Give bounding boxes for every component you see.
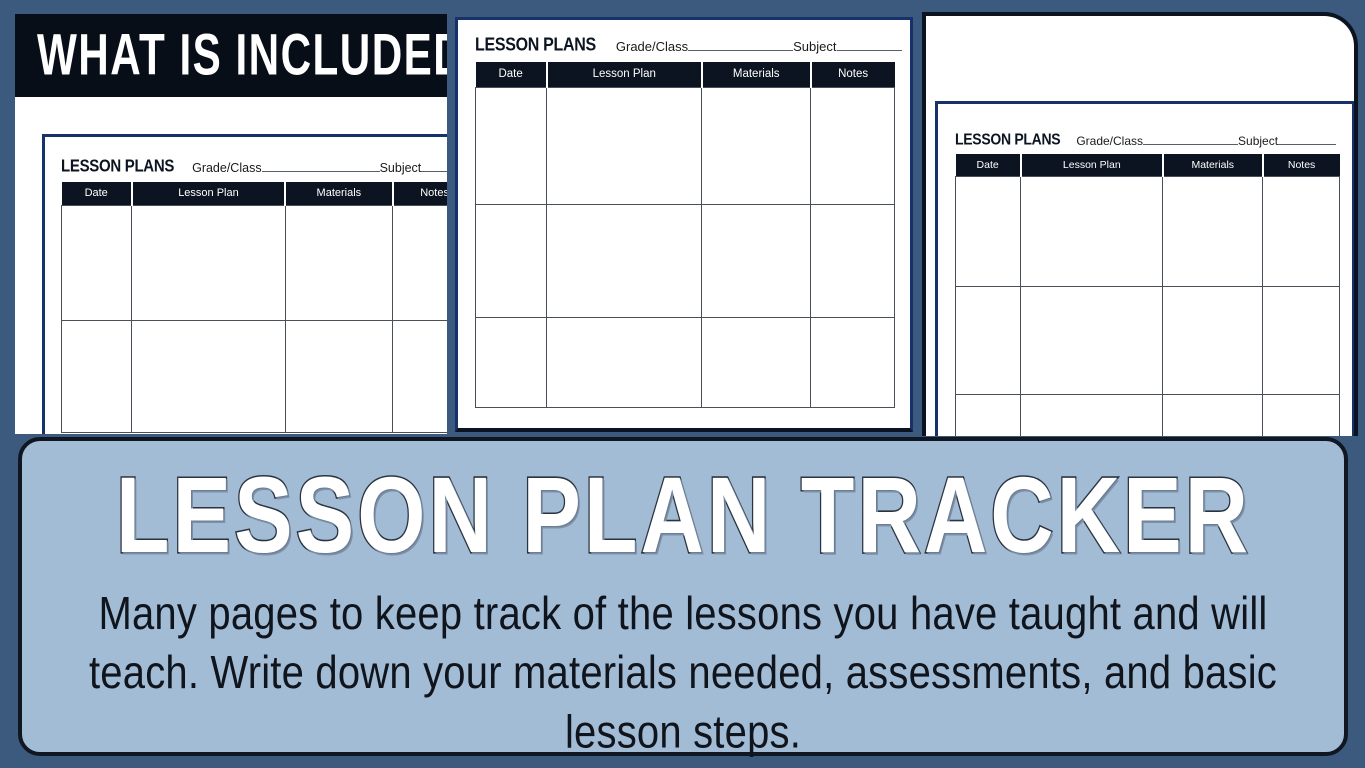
cell-notes[interactable] xyxy=(811,87,895,204)
sheet-header: LESSON PLANS Grade/Class Subject xyxy=(955,132,1340,148)
column-header-notes: Notes xyxy=(393,182,447,205)
cell-date[interactable] xyxy=(476,204,547,317)
cell-notes[interactable] xyxy=(1263,394,1340,436)
product-description: Many pages to keep track of the lessons … xyxy=(43,585,1323,763)
lesson-plan-table: Date Lesson Plan Materials Notes xyxy=(475,62,895,408)
column-header-materials: Materials xyxy=(1163,154,1263,176)
cell-lesson-plan[interactable] xyxy=(1021,394,1163,436)
column-header-materials: Materials xyxy=(285,182,393,205)
subject-label: Subject xyxy=(793,39,836,54)
column-header-date: Date xyxy=(62,182,132,205)
lesson-plan-sheet: LESSON PLANS Grade/Class Subject Date Le… xyxy=(475,38,895,408)
lesson-plan-page-preview-3[interactable]: LESSON PLANS Grade/Class Subject Date Le… xyxy=(922,12,1358,436)
column-header-date: Date xyxy=(956,154,1021,176)
sheet-title: LESSON PLANS xyxy=(475,35,596,56)
cell-notes[interactable] xyxy=(811,204,895,317)
cell-materials[interactable] xyxy=(285,320,393,432)
table-header-row: Date Lesson Plan Materials Notes xyxy=(476,62,895,87)
sheet-header: LESSON PLANS Grade/Class Subject xyxy=(475,38,895,56)
table-row xyxy=(62,320,448,432)
table-row xyxy=(956,286,1340,394)
lesson-plan-table: Date Lesson Plan Materials Notes xyxy=(61,182,447,433)
table-row xyxy=(476,87,895,204)
cell-materials[interactable] xyxy=(702,204,811,317)
sheet-fields: Grade/Class Subject xyxy=(1060,134,1336,148)
cell-lesson-plan[interactable] xyxy=(547,317,702,407)
column-header-lesson-plan: Lesson Plan xyxy=(547,62,702,87)
subject-input[interactable] xyxy=(1278,135,1336,145)
grade-class-input[interactable] xyxy=(688,40,793,51)
cell-materials[interactable] xyxy=(1163,394,1263,436)
table-row xyxy=(956,176,1340,286)
sheet-fields: Grade/Class Subject xyxy=(596,39,902,54)
cell-lesson-plan[interactable] xyxy=(132,205,285,320)
product-preview-canvas: WHAT IS INCLUDED LESSON PLANS Grade/Clas… xyxy=(0,0,1365,768)
table-row xyxy=(476,317,895,407)
product-headline: LESSON PLAN TRACKER xyxy=(115,463,1250,568)
lesson-plan-page-preview-1[interactable]: WHAT IS INCLUDED LESSON PLANS Grade/Clas… xyxy=(15,14,447,434)
sheet-title: LESSON PLANS xyxy=(955,130,1060,148)
cell-notes[interactable] xyxy=(811,317,895,407)
cell-date[interactable] xyxy=(476,87,547,204)
cell-date[interactable] xyxy=(956,394,1021,436)
cell-materials[interactable] xyxy=(702,87,811,204)
column-header-notes: Notes xyxy=(811,62,895,87)
table-header-row: Date Lesson Plan Materials Notes xyxy=(956,154,1340,176)
page-inner-frame: LESSON PLANS Grade/Class Subject Date Le… xyxy=(935,101,1355,436)
grade-class-label: Grade/Class xyxy=(1076,134,1143,148)
cell-notes[interactable] xyxy=(393,205,447,320)
lesson-plan-page-preview-2[interactable]: LESSON PLANS Grade/Class Subject Date Le… xyxy=(455,17,913,432)
cell-date[interactable] xyxy=(956,176,1021,286)
subject-input[interactable] xyxy=(837,40,902,51)
subject-input[interactable] xyxy=(421,161,447,172)
table-row xyxy=(62,205,448,320)
cell-notes[interactable] xyxy=(1263,176,1340,286)
column-header-materials: Materials xyxy=(702,62,811,87)
grade-class-input[interactable] xyxy=(1143,135,1238,145)
sheet-header: LESSON PLANS Grade/Class Subject xyxy=(61,159,447,176)
cell-date[interactable] xyxy=(62,320,132,432)
cell-materials[interactable] xyxy=(1163,176,1263,286)
product-title-panel: LESSON PLAN TRACKER Many pages to keep t… xyxy=(18,437,1348,756)
grade-class-label: Grade/Class xyxy=(192,161,261,175)
table-header-row: Date Lesson Plan Materials Notes xyxy=(62,182,448,205)
cell-lesson-plan[interactable] xyxy=(1021,176,1163,286)
subject-label: Subject xyxy=(1238,134,1278,148)
sheet-fields: Grade/Class Subject xyxy=(174,161,447,175)
cell-lesson-plan[interactable] xyxy=(1021,286,1163,394)
cell-materials[interactable] xyxy=(1163,286,1263,394)
cell-materials[interactable] xyxy=(285,205,393,320)
sheet-title: LESSON PLANS xyxy=(61,156,174,176)
grade-class-label: Grade/Class xyxy=(616,39,688,54)
page-inner-frame: LESSON PLANS Grade/Class Subject Date Le… xyxy=(42,134,447,434)
grade-class-input[interactable] xyxy=(262,161,380,172)
column-header-lesson-plan: Lesson Plan xyxy=(132,182,285,205)
table-row xyxy=(476,204,895,317)
column-header-date: Date xyxy=(476,62,547,87)
cell-lesson-plan[interactable] xyxy=(547,204,702,317)
cell-date[interactable] xyxy=(476,317,547,407)
lesson-plan-table: Date Lesson Plan Materials Notes xyxy=(955,154,1340,436)
cell-date[interactable] xyxy=(956,286,1021,394)
cell-notes[interactable] xyxy=(393,320,447,432)
what-is-included-banner: WHAT IS INCLUDED xyxy=(15,14,447,97)
lesson-plan-sheet: LESSON PLANS Grade/Class Subject Date Le… xyxy=(61,159,447,433)
lesson-plan-sheet: LESSON PLANS Grade/Class Subject Date Le… xyxy=(955,132,1340,436)
banner-label: WHAT IS INCLUDED xyxy=(37,23,447,89)
column-header-lesson-plan: Lesson Plan xyxy=(1021,154,1163,176)
cell-date[interactable] xyxy=(62,205,132,320)
table-row xyxy=(956,394,1340,436)
cell-notes[interactable] xyxy=(1263,286,1340,394)
column-header-notes: Notes xyxy=(1263,154,1340,176)
cell-lesson-plan[interactable] xyxy=(547,87,702,204)
cell-materials[interactable] xyxy=(702,317,811,407)
cell-lesson-plan[interactable] xyxy=(132,320,285,432)
subject-label: Subject xyxy=(380,161,422,175)
